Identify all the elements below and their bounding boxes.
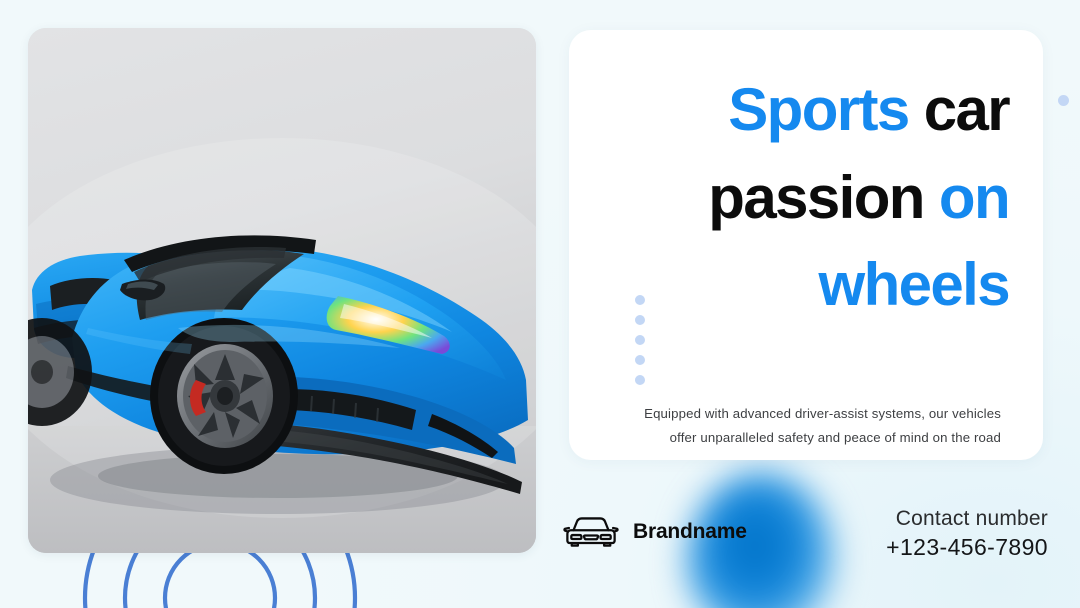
sports-car-photo — [28, 28, 536, 553]
decorative-dot-right-edge — [1058, 95, 1069, 106]
brand-name: Brandname — [633, 520, 747, 544]
body-paragraph: Equipped with advanced driver-assist sys… — [629, 402, 1001, 450]
headline-line-2: passion on — [603, 154, 1009, 242]
decorative-dot — [635, 355, 645, 365]
headline-word-wheels: wheels — [819, 251, 1010, 318]
decorative-dot — [635, 295, 645, 305]
headline-line-1: Sports car — [603, 66, 1009, 154]
decorative-dot — [635, 315, 645, 325]
brand-lockup: Brandname — [563, 514, 747, 550]
page-title: Sports car passion on wheels — [603, 66, 1009, 329]
headline-word-sports: Sports — [728, 76, 908, 143]
decorative-dot-column — [635, 295, 645, 385]
decorative-dot — [635, 335, 645, 345]
poster-canvas: Sports car passion on wheels Equipped wi… — [0, 0, 1080, 608]
contact-number[interactable]: +123-456-7890 — [886, 533, 1048, 562]
headline-line-3: wheels — [603, 241, 1009, 329]
headline-word-car: car — [909, 76, 1009, 143]
contact-label: Contact number — [886, 506, 1048, 533]
headline-card: Sports car passion on wheels Equipped wi… — [569, 30, 1043, 460]
headline-word-passion: passion — [708, 164, 939, 231]
contact-block: Contact number +123-456-7890 — [886, 506, 1048, 562]
decorative-dot — [635, 375, 645, 385]
headline-word-on: on — [939, 164, 1009, 231]
car-front-icon — [563, 514, 619, 550]
